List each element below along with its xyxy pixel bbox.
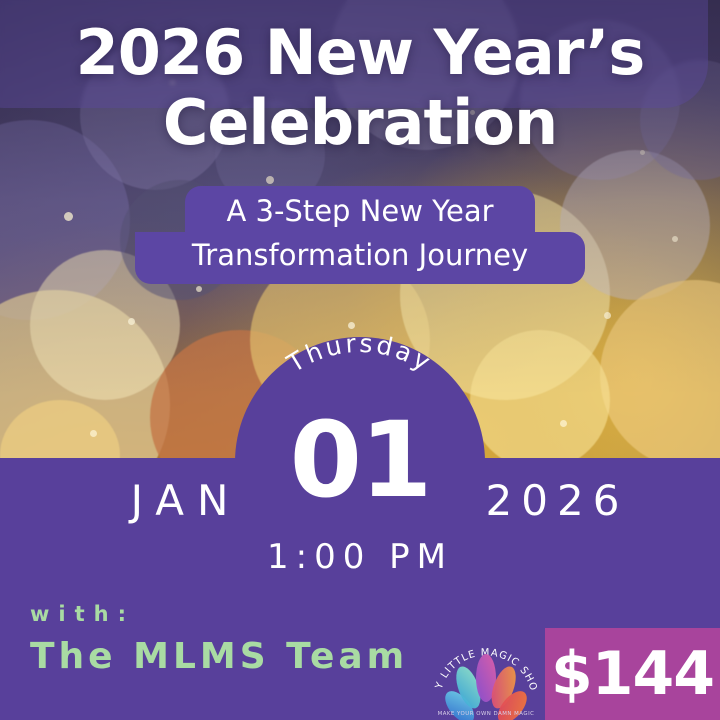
- time-label: 1:00 PM: [0, 537, 720, 577]
- with-label: with:: [30, 602, 135, 626]
- price-tag: $144: [545, 628, 720, 720]
- subtitle-line-1: A 3-Step New Year: [185, 186, 535, 232]
- subtitle-banner: A 3-Step New Year Transformation Journey: [0, 186, 720, 284]
- year-label: 2026: [452, 476, 662, 525]
- logo-tagline: MAKE YOUR OWN DAMN MAGIC: [438, 711, 535, 717]
- title-line-1: 2026 New Year’s: [0, 18, 720, 88]
- bokeh-dot: [128, 318, 135, 325]
- bokeh-dot: [348, 322, 355, 329]
- presenter-name: The MLMS Team: [30, 636, 408, 677]
- bokeh-dot: [604, 312, 611, 319]
- magic-shop-logo: MY LITTLE MAGIC SHOP MAKE YOUR OWN DAMN …: [430, 624, 542, 720]
- bokeh-dot: [266, 176, 274, 184]
- weekday-text: Thursday: [281, 332, 438, 379]
- price-value: $144: [551, 639, 714, 709]
- subtitle-line-2: Transformation Journey: [135, 232, 585, 284]
- svg-text:Thursday: Thursday: [281, 332, 438, 379]
- month-label: JAN: [96, 476, 276, 525]
- event-poster: 2026 New Year’s Celebration A 3-Step New…: [0, 0, 720, 720]
- bokeh-dot: [196, 286, 202, 292]
- poster-title: 2026 New Year’s Celebration: [0, 18, 720, 158]
- title-line-2: Celebration: [0, 88, 720, 158]
